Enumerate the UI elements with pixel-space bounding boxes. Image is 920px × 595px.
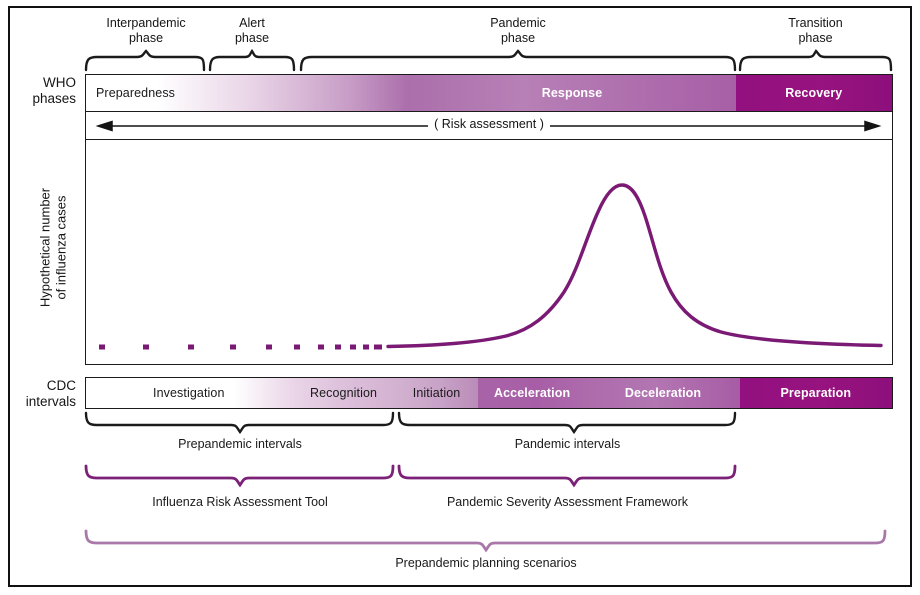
cdc-interval-label-recognition: Recognition <box>292 386 396 400</box>
cdc-interval-label-initiation: Initiation <box>395 386 477 400</box>
top-phase-label-transition: Transition phase <box>739 16 892 46</box>
grouping-brackets-row-3 <box>85 530 895 552</box>
grouping-label-prepandemic-intervals: Prepandemic intervals <box>85 437 395 451</box>
epidemic-curve <box>86 140 891 362</box>
grouping-label-influenza-risk-assessment-tool: Influenza Risk Assessment Tool <box>85 495 395 509</box>
who-segment-preparedness: Preparedness <box>86 75 408 111</box>
grouping-label-pandemic-intervals: Pandemic intervals <box>398 437 737 451</box>
top-phase-brackets <box>85 50 895 74</box>
grouping-brackets-row-2 <box>85 465 765 487</box>
curve-epidemic-wave <box>388 185 881 347</box>
cdc-interval-preparation: Preparation <box>740 378 892 408</box>
top-phase-label-interpandemic: Interpandemic phase <box>85 16 207 46</box>
who-segment-response: Response <box>408 75 735 111</box>
top-phase-label-pandemic: Pandemic phase <box>300 16 736 46</box>
who-phases-side-label: WHO phases <box>18 75 76 107</box>
risk-assessment-label: ( Risk assessment ) <box>428 117 550 131</box>
top-phase-label-alert: Alert phase <box>209 16 295 46</box>
pandemic-intervals-figure: Interpandemic phase Alert phase Pandemic… <box>0 0 920 595</box>
cdc-interval-investigation: Investigation <box>86 378 292 408</box>
who-segment-recovery: Recovery <box>736 75 892 111</box>
grouping-label-pandemic-severity-assessment-framework: Pandemic Severity Assessment Framework <box>398 495 737 509</box>
cdc-interval-label-acceleration: Acceleration <box>478 386 587 400</box>
grouping-label-prepandemic-planning-scenarios: Prepandemic planning scenarios <box>85 556 887 570</box>
y-axis-label: Hypothetical number of influenza cases <box>38 133 69 363</box>
cdc-interval-label-investigation: Investigation <box>86 386 292 400</box>
cdc-interval-recognition: Recognition <box>292 378 396 408</box>
cdc-interval-deceleration: Deceleration <box>586 378 739 408</box>
who-segment-label-recovery: Recovery <box>736 86 892 100</box>
cdc-interval-acceleration: Acceleration <box>478 378 587 408</box>
grouping-brackets-row-1 <box>85 412 765 434</box>
who-phases-bar: Preparedness Response Recovery <box>85 74 893 112</box>
cdc-interval-initiation: Initiation <box>395 378 477 408</box>
cdc-intervals-bar: Investigation Recognition Initiation Acc… <box>85 377 893 409</box>
cdc-interval-label-preparation: Preparation <box>740 386 892 400</box>
cdc-intervals-side-label: CDC intervals <box>18 378 76 410</box>
risk-assessment-strip: ( Risk assessment ) <box>85 112 893 140</box>
who-segment-label-preparedness: Preparedness <box>86 86 408 100</box>
epidemic-curve-panel <box>85 140 893 365</box>
who-segment-label-response: Response <box>408 86 735 100</box>
cdc-interval-label-deceleration: Deceleration <box>586 386 739 400</box>
